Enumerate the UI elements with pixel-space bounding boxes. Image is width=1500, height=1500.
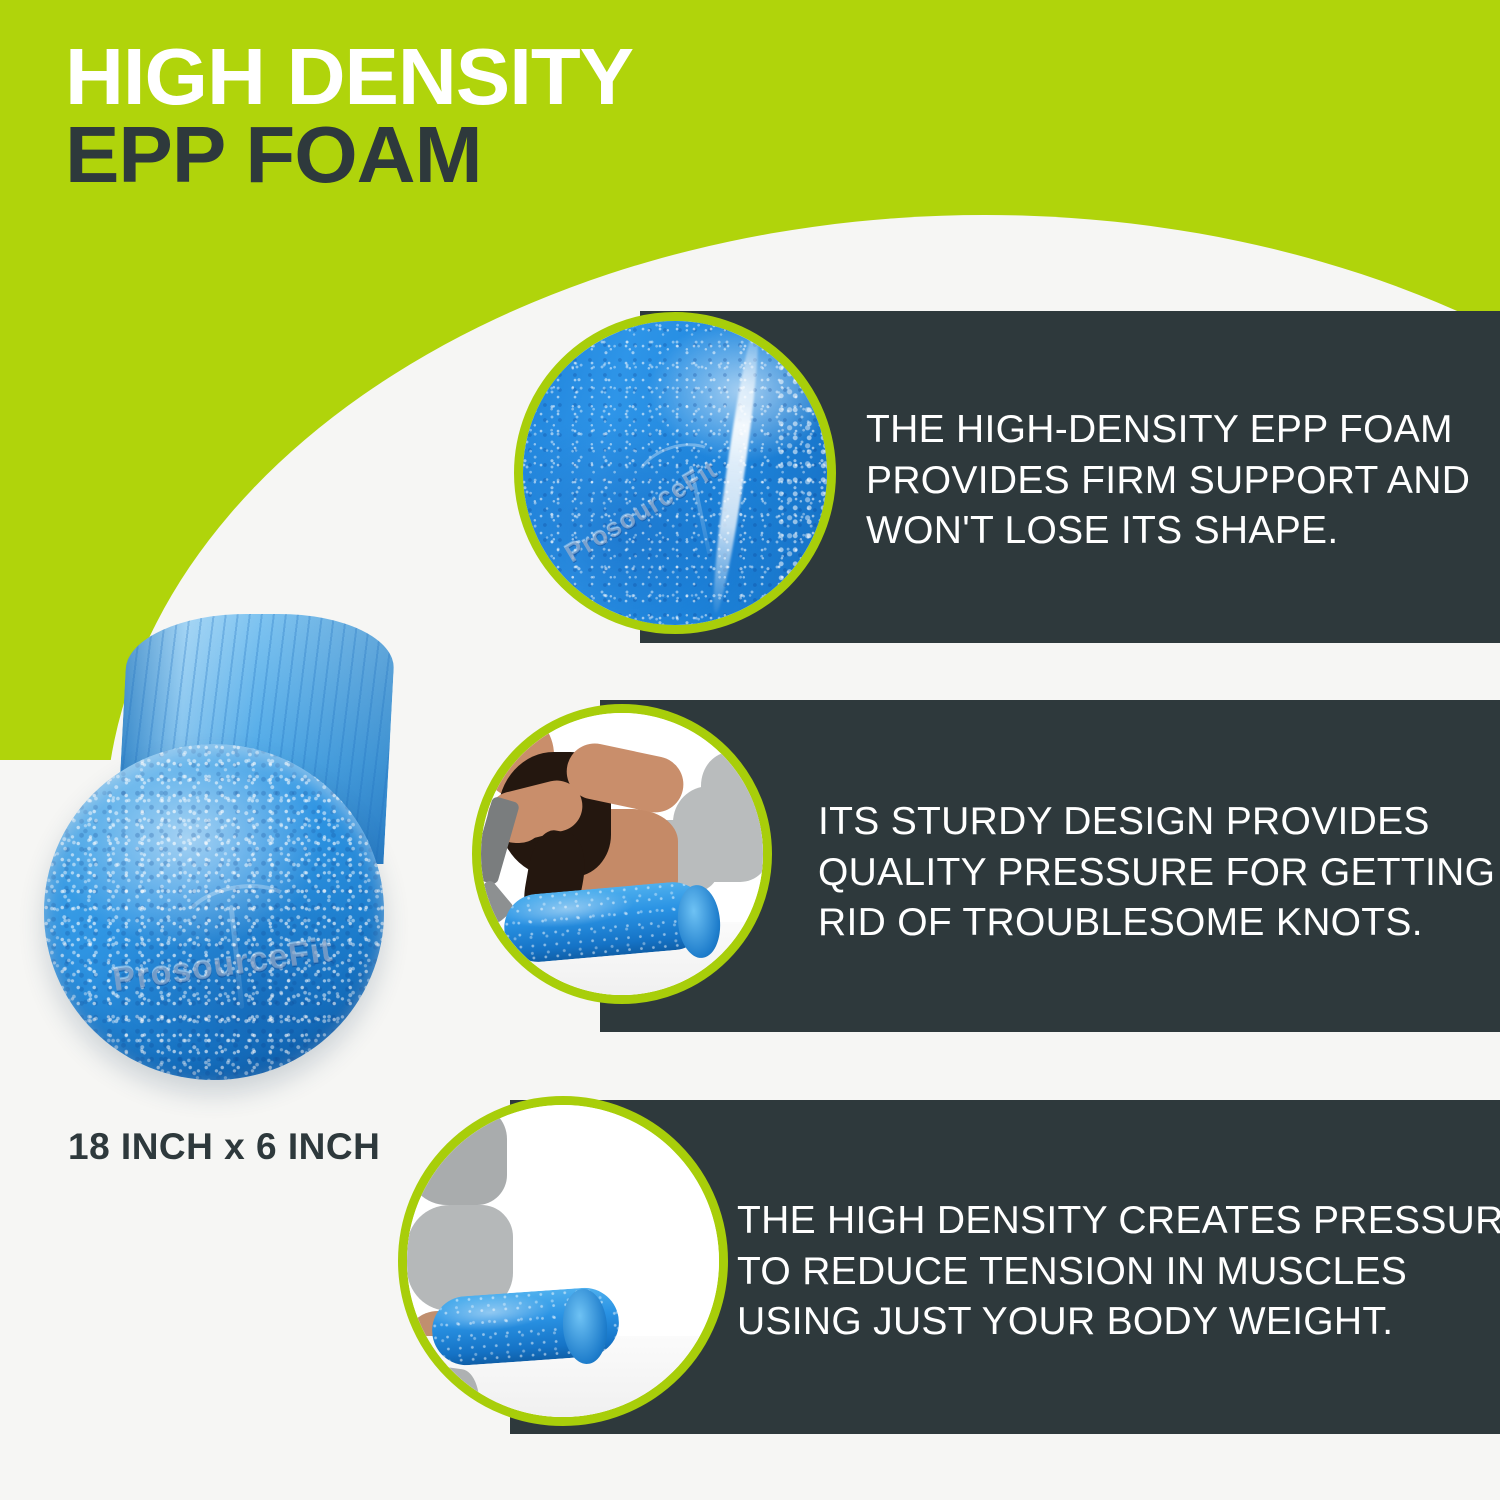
feature-text-1: THE HIGH-DENSITY EPP FOAM PROVIDES FIRM … [866,405,1470,557]
feature-2-line-3: RID OF TROUBLESOME KNOTS. [818,898,1495,949]
hero-roller-end-face: ProsourceFit [44,744,384,1080]
feature-text-3: THE HIGH DENSITY CREATES PRESSURE TO RED… [737,1196,1500,1348]
hero-product-foam-roller: ProsourceFit [30,614,430,1084]
page-title: HIGH DENSITY EPP FOAM [65,38,622,193]
hero-roller-rim-shading [44,744,384,1080]
feature-text-2: ITS STURDY DESIGN PROVIDES QUALITY PRESS… [818,797,1495,949]
photo-inner-1: ProsourceFit [523,321,827,625]
feature-2-line-1: ITS STURDY DESIGN PROVIDES [818,797,1495,848]
title-line-primary: HIGH DENSITY [65,38,633,116]
feature-3-line-1: THE HIGH DENSITY CREATES PRESSURE [737,1196,1500,1247]
product-dimension-label: 18 INCH x 6 INCH [68,1126,380,1168]
title-line-secondary: EPP FOAM [65,116,633,194]
feature-1-line-2: PROVIDES FIRM SUPPORT AND [866,456,1470,507]
model-hip [407,1105,507,1205]
feature-1-line-1: THE HIGH-DENSITY EPP FOAM [866,405,1470,456]
feature-photo-foam-closeup: ProsourceFit [514,312,836,634]
foam-end-cap-image: ProsourceFit [523,321,827,625]
feature-photo-leg-roll [398,1096,728,1426]
feature-1-line-3: WON'T LOSE ITS SHAPE. [866,506,1470,557]
feature-2-line-2: QUALITY PRESSURE FOR GETTING [818,848,1495,899]
feature-3-line-3: USING JUST YOUR BODY WEIGHT. [737,1297,1500,1348]
photo-inner-2 [481,713,763,995]
feature-photo-back-roll [472,704,772,1004]
photo-inner-3 [407,1105,719,1417]
foam-side-bead-texture [777,321,827,625]
feature-3-line-2: TO REDUCE TENSION IN MUSCLES [737,1247,1500,1298]
